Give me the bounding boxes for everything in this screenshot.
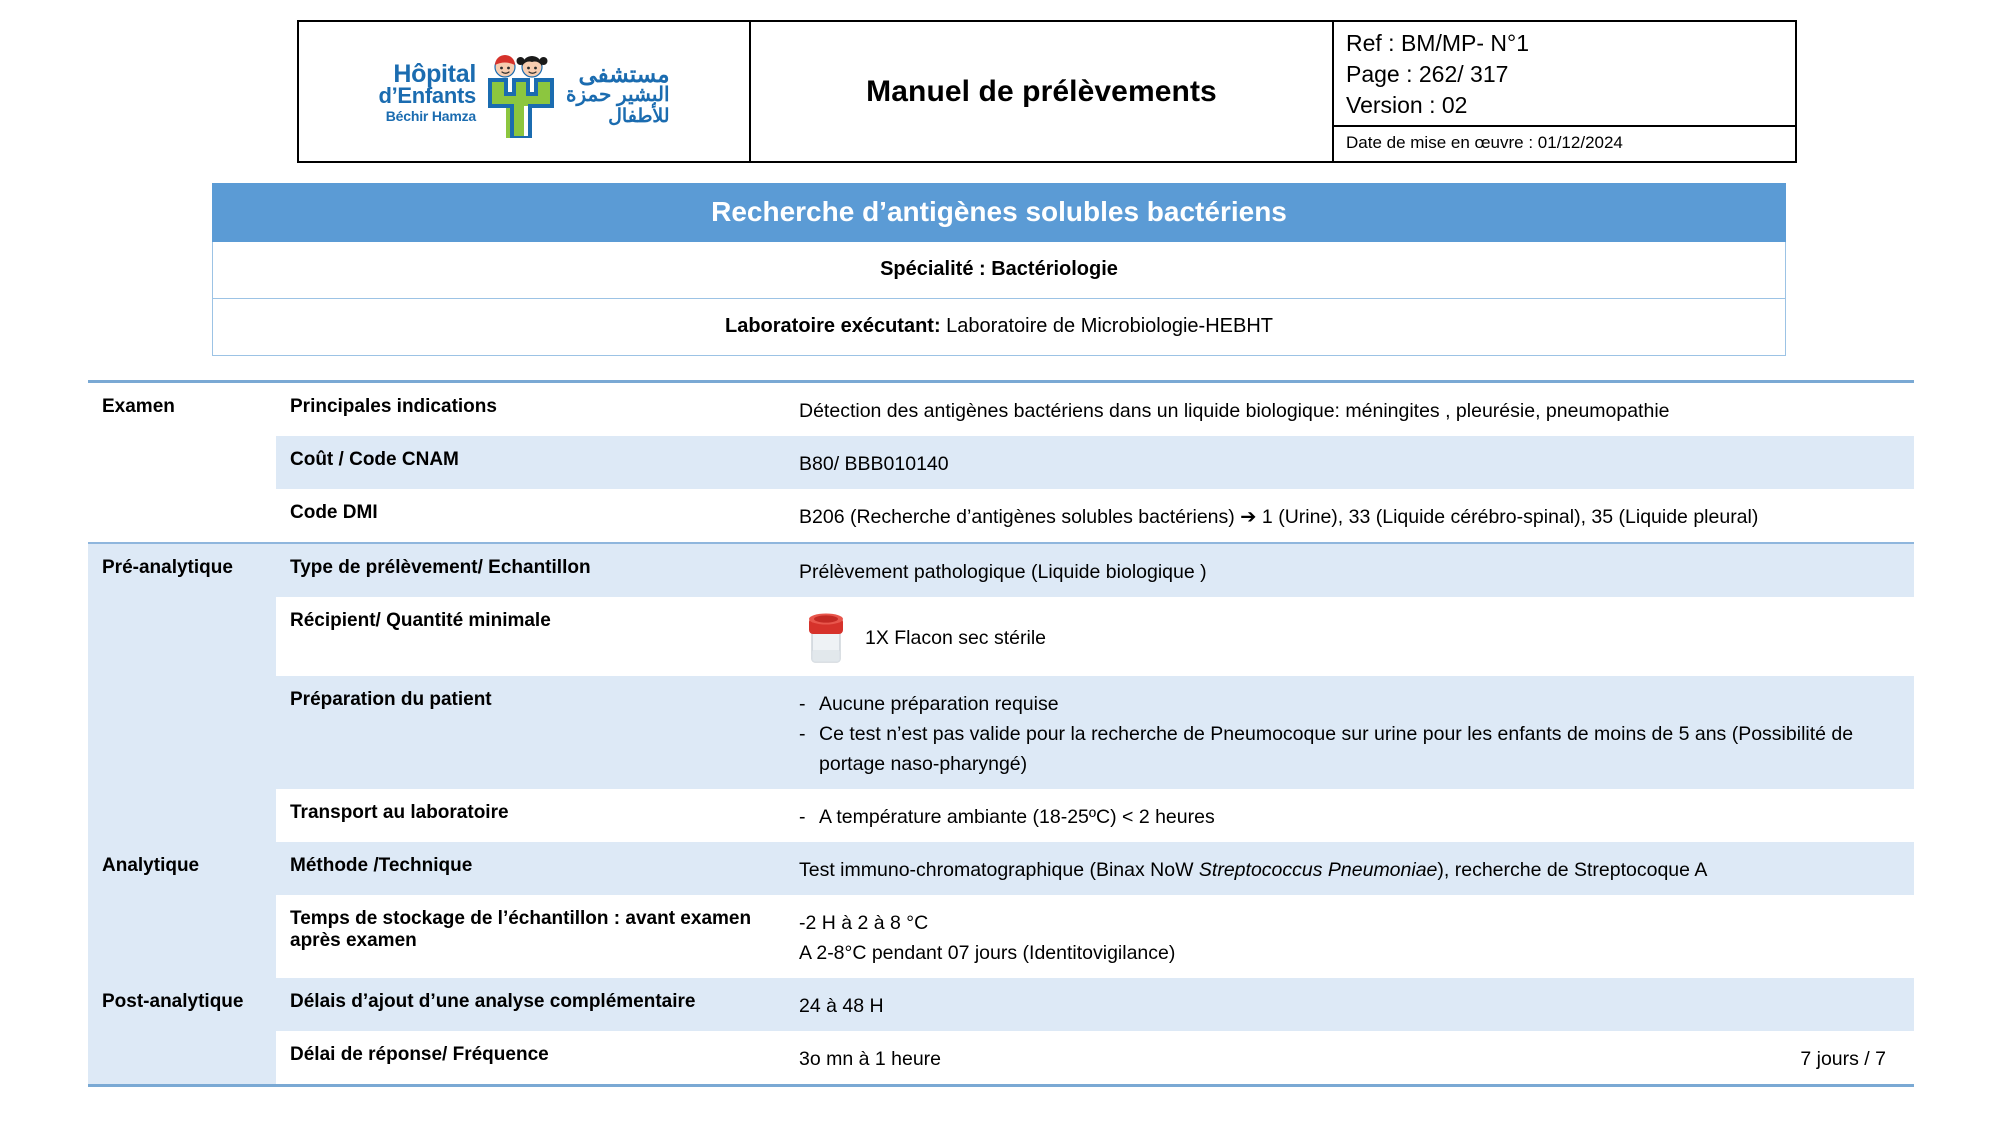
dash-marker: - bbox=[799, 802, 809, 832]
table-row: Préparation du patient -Aucune préparati… bbox=[88, 676, 1914, 789]
bullet-list: -Aucune préparation requise - Ce test n’… bbox=[799, 689, 1900, 779]
table-row: Examen Principales indications Détection… bbox=[88, 383, 1914, 436]
laboratoire-value: Laboratoire de Microbiologie-HEBHT bbox=[941, 315, 1273, 337]
logo-line-hopital: Hôpital bbox=[378, 64, 476, 85]
row-label: Récipient/ Quantité minimale bbox=[276, 597, 799, 676]
document-meta-bottom: Date de mise en œuvre : 01/12/2024 bbox=[1334, 127, 1795, 161]
document-header: Hôpital d’Enfants Béchir Hamza bbox=[297, 20, 1797, 163]
row-label: Délai de réponse/ Fréquence bbox=[276, 1031, 799, 1084]
phase-label-post-analytique: Post-analytique bbox=[88, 978, 276, 1031]
logo-arabic-line3: للأطفال bbox=[566, 106, 670, 127]
specimen-vial-icon bbox=[799, 610, 853, 666]
phase-spacer bbox=[88, 895, 276, 978]
row-label-line2: après examen bbox=[290, 930, 777, 952]
table-row: Code DMI B206 (Recherche d’antigènes sol… bbox=[88, 489, 1914, 542]
hospital-emblem-icon bbox=[484, 54, 558, 138]
exam-title-block: Recherche d’antigènes solubles bactérien… bbox=[212, 183, 1786, 356]
table-row: Pré-analytique Type de prélèvement/ Echa… bbox=[88, 542, 1914, 597]
phase-spacer bbox=[88, 676, 276, 789]
phase-label-pre-analytique: Pré-analytique bbox=[88, 544, 276, 597]
row-label-line1: Temps de stockage de l’échantillon : ava… bbox=[290, 908, 777, 930]
row-label: Méthode /Technique bbox=[276, 842, 799, 895]
specialite-row: Spécialité : Bactériologie bbox=[212, 242, 1786, 299]
row-value-container: 1X Flacon sec stérile bbox=[799, 597, 1914, 676]
logo-arabic-text: مستشفى البشير حمزة للأطفال bbox=[566, 64, 670, 127]
table-row: Temps de stockage de l’échantillon : ava… bbox=[88, 895, 1914, 978]
row-value-container: Test immuno-chromatographique (Binax NoW… bbox=[799, 842, 1914, 895]
document-meta-cell: Ref : BM/MP- N°1 Page : 262/ 317 Version… bbox=[1334, 22, 1795, 161]
row-value: Prélèvement pathologique (Liquide biolog… bbox=[799, 544, 1914, 597]
row-value-container: -Aucune préparation requise - Ce test n’… bbox=[799, 676, 1914, 789]
row-value: B206 (Recherche d’antigènes solubles bac… bbox=[799, 489, 1914, 542]
logo-arabic-line2: البشير حمزة bbox=[566, 85, 670, 106]
laboratoire-row: Laboratoire exécutant: Laboratoire de Mi… bbox=[212, 299, 1786, 356]
hospital-logo-cell: Hôpital d’Enfants Béchir Hamza bbox=[299, 22, 751, 161]
table-row: Délai de réponse/ Fréquence 7 jours / 7 … bbox=[88, 1031, 1914, 1084]
frequence-value: 7 jours / 7 bbox=[1800, 1044, 1900, 1074]
row-value-suffix: ), recherche de Streptocoque A bbox=[1437, 859, 1707, 881]
list-item: -Aucune préparation requise bbox=[799, 689, 1900, 719]
phase-label-examen: Examen bbox=[88, 383, 276, 436]
row-value: 3o mn à 1 heure bbox=[799, 1048, 941, 1070]
row-label: Type de prélèvement/ Echantillon bbox=[276, 544, 799, 597]
bullet-list: -A température ambiante (18-25ºC) < 2 he… bbox=[799, 802, 1900, 832]
logo-arabic-line1: مستشفى bbox=[566, 64, 670, 85]
row-value-container: -A température ambiante (18-25ºC) < 2 he… bbox=[799, 789, 1914, 842]
row-value-container: -2 H à 2 à 8 °C A 2-8°C pendant 07 jours… bbox=[799, 895, 1914, 978]
meta-page: Page : 262/ 317 bbox=[1346, 59, 1795, 90]
row-value-line2: A 2-8°C pendant 07 jours (Identitovigila… bbox=[799, 938, 1900, 968]
meta-date: Date de mise en œuvre : 01/12/2024 bbox=[1346, 132, 1795, 154]
phase-label-analytique: Analytique bbox=[88, 842, 276, 895]
list-item: - Ce test n’est pas valide pour la reche… bbox=[799, 719, 1900, 779]
phase-spacer bbox=[88, 489, 276, 542]
table-row: Récipient/ Quantité minimale 1X Flacon s… bbox=[88, 597, 1914, 676]
table-row: Coût / Code CNAM B80/ BBB010140 bbox=[88, 436, 1914, 489]
row-label: Transport au laboratoire bbox=[276, 789, 799, 842]
document-title-cell: Manuel de prélèvements bbox=[751, 22, 1334, 161]
list-item-text: Aucune préparation requise bbox=[819, 689, 1059, 719]
list-item-text: A température ambiante (18-25ºC) < 2 heu… bbox=[819, 802, 1215, 832]
document-title: Manuel de prélèvements bbox=[866, 75, 1217, 109]
row-label: Préparation du patient bbox=[276, 676, 799, 789]
logo-french-text: Hôpital d’Enfants Béchir Hamza bbox=[378, 64, 476, 127]
row-label: Principales indications bbox=[276, 383, 799, 436]
table-row: Analytique Méthode /Technique Test immun… bbox=[88, 842, 1914, 895]
list-item-text: Ce test n’est pas valide pour la recherc… bbox=[819, 719, 1900, 779]
logo-line-denfants: d’Enfants bbox=[378, 85, 476, 106]
exam-title-banner: Recherche d’antigènes solubles bactérien… bbox=[212, 183, 1786, 242]
phase-spacer bbox=[88, 597, 276, 676]
list-item: -A température ambiante (18-25ºC) < 2 he… bbox=[799, 802, 1900, 832]
row-value-prefix: Test immuno-chromatographique (Binax NoW bbox=[799, 859, 1199, 881]
row-value-line1: -2 H à 2 à 8 °C bbox=[799, 908, 1900, 938]
row-label: Délais d’ajout d’une analyse complémenta… bbox=[276, 978, 799, 1031]
phase-spacer bbox=[88, 1031, 276, 1084]
row-value-container: 7 jours / 7 3o mn à 1 heure bbox=[799, 1031, 1914, 1084]
logo-line-bechir-hamza: Béchir Hamza bbox=[378, 106, 476, 127]
row-value: 24 à 48 H bbox=[799, 978, 1914, 1031]
meta-ref: Ref : BM/MP- N°1 bbox=[1346, 28, 1795, 59]
exam-details-table: Examen Principales indications Détection… bbox=[88, 380, 1914, 1087]
row-value: B80/ BBB010140 bbox=[799, 436, 1914, 489]
row-label: Code DMI bbox=[276, 489, 799, 542]
table-row: Post-analytique Délais d’ajout d’une ana… bbox=[88, 978, 1914, 1031]
dash-marker: - bbox=[799, 719, 809, 779]
dash-marker: - bbox=[799, 689, 809, 719]
hospital-logo: Hôpital d’Enfants Béchir Hamza bbox=[378, 54, 669, 138]
row-value: 1X Flacon sec stérile bbox=[865, 623, 1046, 653]
row-label-container: Temps de stockage de l’échantillon : ava… bbox=[276, 895, 799, 978]
phase-spacer bbox=[88, 436, 276, 489]
row-value: Détection des antigènes bactériens dans … bbox=[799, 383, 1914, 436]
document-meta-top: Ref : BM/MP- N°1 Page : 262/ 317 Version… bbox=[1334, 22, 1795, 127]
laboratoire-label: Laboratoire exécutant: bbox=[725, 315, 941, 337]
row-value-species: Streptococcus Pneumoniae bbox=[1199, 859, 1437, 881]
meta-version: Version : 02 bbox=[1346, 90, 1795, 121]
row-label: Coût / Code CNAM bbox=[276, 436, 799, 489]
phase-spacer bbox=[88, 789, 276, 842]
table-row: Transport au laboratoire -A température … bbox=[88, 789, 1914, 842]
specialite-label: Spécialité : Bactériologie bbox=[880, 258, 1118, 280]
